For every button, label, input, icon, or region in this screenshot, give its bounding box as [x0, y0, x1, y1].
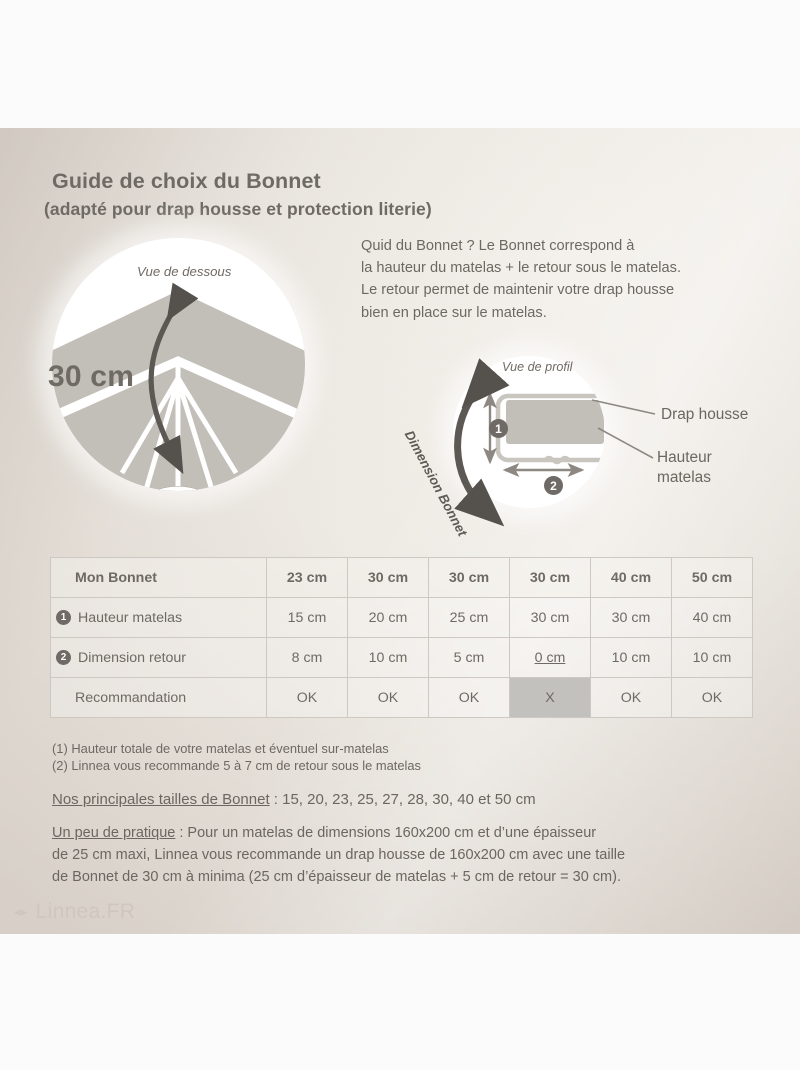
sizes-line-underlined: Nos principales tailles de Bonnet	[52, 791, 270, 808]
table-cell: 30 cm	[510, 598, 591, 638]
row-badge-2: 2	[56, 650, 71, 665]
table-row: 2Dimension retour8 cm10 cm5 cm0 cm10 cm1…	[51, 638, 753, 678]
label-hauteur-line-2: matelas	[657, 468, 712, 488]
table-row: Mon Bonnet23 cm30 cm30 cm30 cm40 cm50 cm	[51, 558, 753, 598]
bonnet-size-callout: 30 cm	[48, 360, 134, 394]
footnote-1: (1) Hauteur totale de votre matelas et é…	[52, 741, 389, 756]
label-drap-housse: Drap housse	[661, 405, 748, 425]
diagram-badge-2: 2	[544, 476, 563, 495]
leader-line-hauteur	[598, 428, 653, 458]
table-cell: 10 cm	[591, 638, 672, 678]
table-cell: 30 cm	[348, 558, 429, 598]
caption-profile-view: Vue de profil	[502, 360, 572, 374]
sizes-line-rest: : 15, 20, 23, 25, 27, 28, 30, 40 et 50 c…	[270, 791, 536, 808]
table-cell: 30 cm	[510, 558, 591, 598]
table-cell: OK	[591, 678, 672, 718]
practice-line-2: de 25 cm maxi, Linnea vous recommande un…	[52, 847, 625, 863]
diagram-artwork	[0, 128, 800, 934]
table-cell: X	[510, 678, 591, 718]
table-row-label: 2Dimension retour	[51, 638, 267, 678]
table-cell: OK	[672, 678, 753, 718]
bonnet-dimension-arc-arrow	[458, 390, 486, 510]
table-cell: OK	[429, 678, 510, 718]
label-hauteur-line-1: Hauteur	[657, 448, 712, 468]
table-row-label: Mon Bonnet	[51, 558, 267, 598]
table-cell: 5 cm	[429, 638, 510, 678]
table-row: RecommandationOKOKOKXOKOK	[51, 678, 753, 718]
table-cell: 50 cm	[672, 558, 753, 598]
footnote-2: (2) Linnea vous recommande 5 à 7 cm de r…	[52, 758, 421, 773]
table-cell: 40 cm	[672, 598, 753, 638]
practice-line-1: : Pour un matelas de dimensions 160x200 …	[175, 825, 596, 841]
table-cell: 23 cm	[267, 558, 348, 598]
table-row: 1Hauteur matelas15 cm20 cm25 cm30 cm30 c…	[51, 598, 753, 638]
table-row-label: Recommandation	[51, 678, 267, 718]
table-cell: 30 cm	[591, 598, 672, 638]
caption-bottom-view: Vue de dessous	[137, 264, 231, 279]
poster-canvas: Guide de choix du Bonnet (adapté pour dr…	[0, 128, 800, 934]
table-cell: 20 cm	[348, 598, 429, 638]
table-cell: 10 cm	[348, 638, 429, 678]
table-row-label: 1Hauteur matelas	[51, 598, 267, 638]
brand-logo[interactable]: ◂▸ Linnea.FR	[14, 900, 135, 924]
table-cell: 0 cm	[510, 638, 591, 678]
diagram-badge-1: 1	[489, 419, 508, 438]
table-cell: 30 cm	[429, 558, 510, 598]
table-cell: 40 cm	[591, 558, 672, 598]
table-row-label-text: Dimension retour	[78, 650, 186, 666]
table-cell: 10 cm	[672, 638, 753, 678]
practice-underlined: Un peu de pratique	[52, 825, 175, 841]
bonnet-size-table: Mon Bonnet23 cm30 cm30 cm30 cm40 cm50 cm…	[50, 557, 753, 718]
practice-paragraph: Un peu de pratique : Pour un matelas de …	[52, 822, 758, 888]
bottom-view-illustration	[26, 288, 330, 532]
profile-view-illustration	[498, 396, 610, 463]
brand-logo-text: Linnea.FR	[36, 900, 136, 924]
row-badge-1: 1	[56, 610, 71, 625]
practice-line-3: de Bonnet de 30 cm à minima (25 cm d’épa…	[52, 869, 621, 885]
table-row-label-text: Hauteur matelas	[78, 610, 182, 626]
table-cell: 25 cm	[429, 598, 510, 638]
play-diamond-icon: ◂▸	[14, 904, 28, 920]
table-cell: 8 cm	[267, 638, 348, 678]
table-cell: 15 cm	[267, 598, 348, 638]
sizes-line: Nos principales tailles de Bonnet : 15, …	[52, 791, 536, 808]
table-cell: OK	[348, 678, 429, 718]
table-body: Mon Bonnet23 cm30 cm30 cm30 cm40 cm50 cm…	[51, 558, 753, 718]
label-hauteur-matelas: Hauteur matelas	[657, 448, 712, 488]
table-cell: OK	[267, 678, 348, 718]
